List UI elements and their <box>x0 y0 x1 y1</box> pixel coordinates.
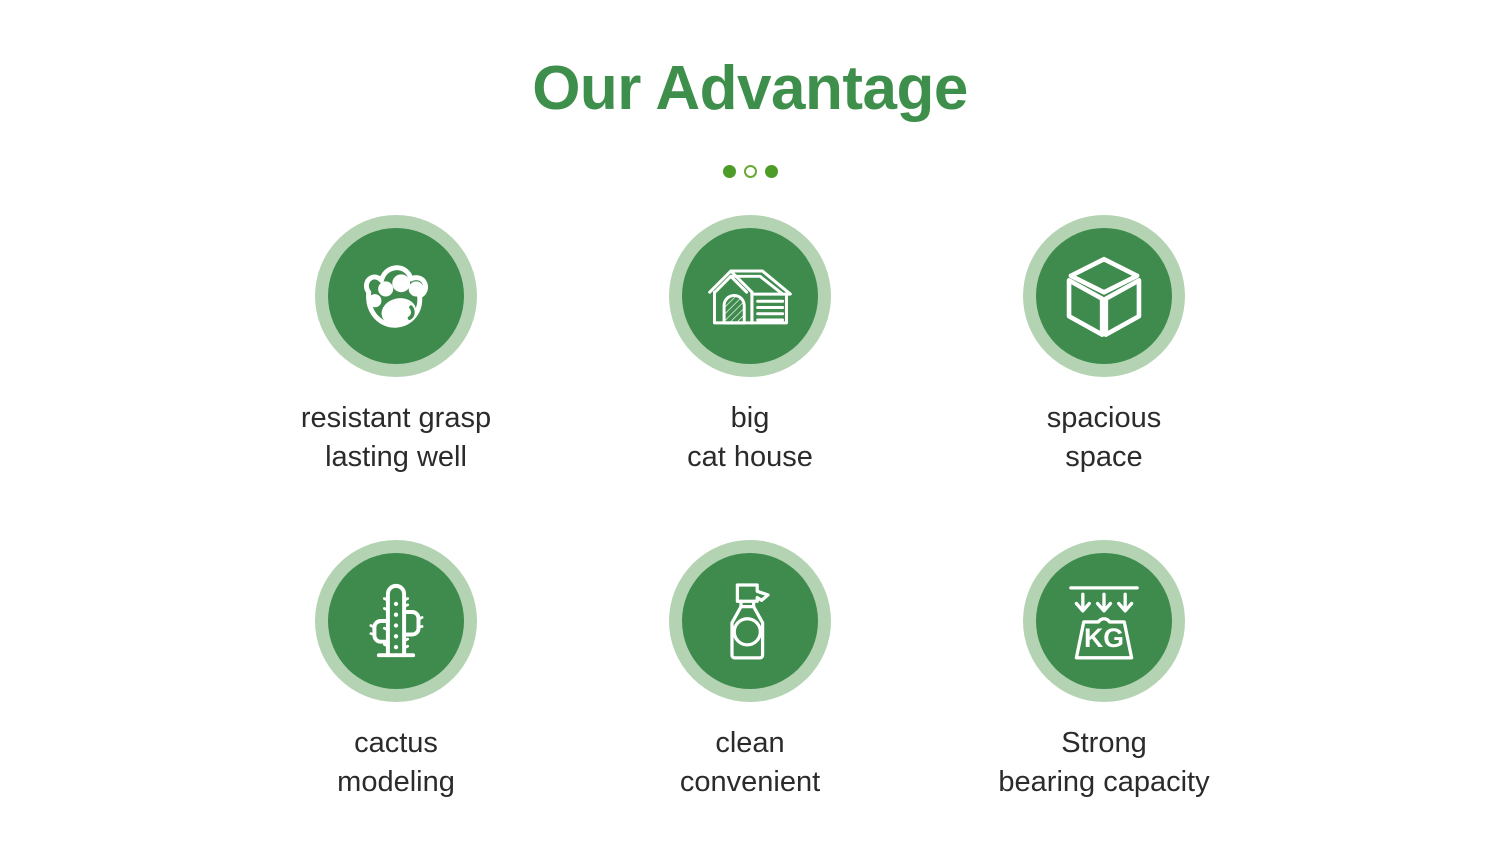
open-cube-icon <box>1036 228 1172 364</box>
dot-2-icon <box>744 165 757 178</box>
section-header: Our Advantage <box>0 0 1500 179</box>
icon-badge-strong-bearing-capacity: KG <box>1023 540 1185 702</box>
feature-card-cactus-modeling[interactable]: cactus modeling <box>220 540 572 844</box>
icon-badge-resistant-grasp <box>315 215 477 377</box>
icon-badge-cactus-modeling <box>315 540 477 702</box>
feature-label-cactus-modeling: cactus modeling <box>337 724 455 802</box>
paw-icon <box>328 228 464 364</box>
icon-badge-spacious-space <box>1023 215 1185 377</box>
icon-badge-big-cat-house <box>669 215 831 377</box>
feature-card-spacious-space[interactable]: spacious space <box>928 215 1280 540</box>
page-title: Our Advantage <box>0 56 1500 121</box>
dot-3-icon <box>765 165 778 178</box>
features-grid: resistant grasp lasting well <box>0 215 1500 844</box>
feature-card-strong-bearing-capacity[interactable]: KG Strong bearing capacity <box>928 540 1280 844</box>
weight-kg-label: KG <box>1084 623 1124 653</box>
feature-card-big-cat-house[interactable]: big cat house <box>574 215 926 540</box>
weight-kg-icon: KG <box>1036 553 1172 689</box>
feature-card-resistant-grasp[interactable]: resistant grasp lasting well <box>220 215 572 540</box>
cat-house-icon <box>682 228 818 364</box>
feature-card-clean-convenient[interactable]: clean convenient <box>574 540 926 844</box>
feature-label-spacious-space: spacious space <box>1047 399 1161 477</box>
feature-label-strong-bearing-capacity: Strong bearing capacity <box>998 724 1209 802</box>
cactus-icon <box>328 553 464 689</box>
feature-label-big-cat-house: big cat house <box>687 399 813 477</box>
our-advantage-section: Our Advantage <box>0 0 1500 844</box>
dot-1-icon <box>723 165 736 178</box>
spray-bottle-icon <box>682 553 818 689</box>
feature-label-clean-convenient: clean convenient <box>680 724 820 802</box>
feature-label-resistant-grasp: resistant grasp lasting well <box>301 399 491 477</box>
dot-divider <box>0 163 1500 179</box>
icon-badge-clean-convenient <box>669 540 831 702</box>
